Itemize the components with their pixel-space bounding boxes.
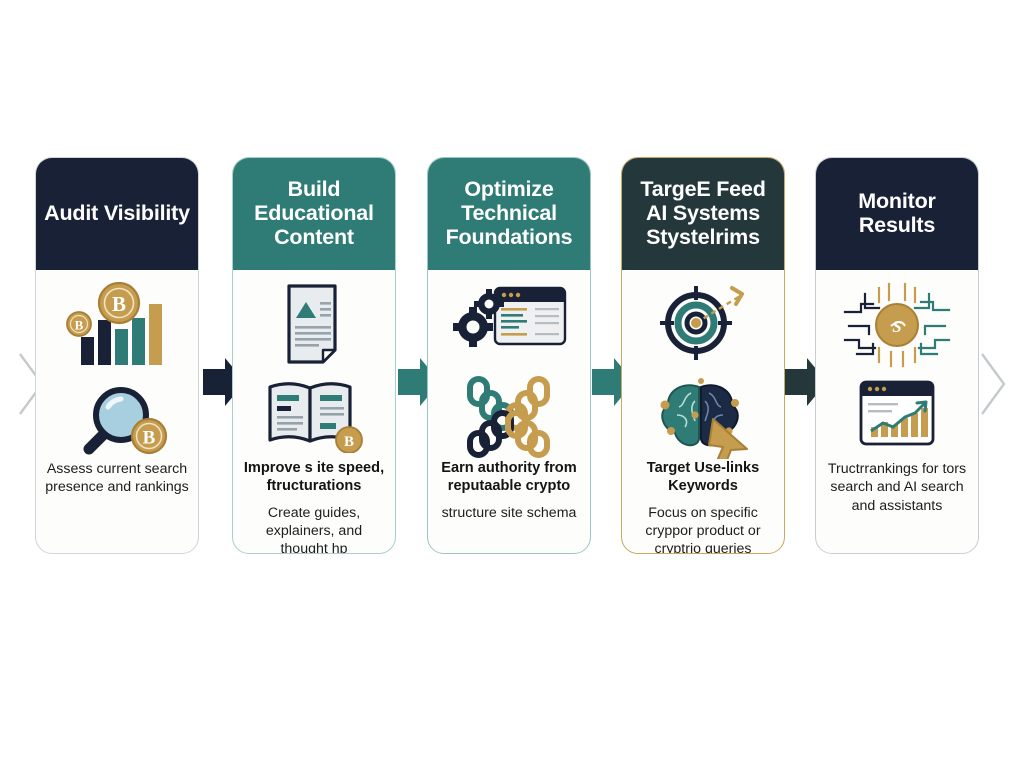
card-body: B B B <box>36 270 198 553</box>
icon-stack: S <box>816 278 978 456</box>
card-text: Target Use-links Keywords Focus on speci… <box>622 456 784 554</box>
svg-text:B: B <box>344 434 354 450</box>
svg-text:B: B <box>143 428 156 449</box>
step-card-audit-visibility[interactable]: Audit Visibility B <box>35 157 199 554</box>
card-description: Tructrrankings for tors search and AI se… <box>825 460 969 515</box>
card-description: Create guides, explainers, and thought h… <box>242 504 386 554</box>
step-card-monitor-results[interactable]: Monitor Results <box>815 157 979 554</box>
card-body: B Improve s ite speed, ftructurations Cr… <box>233 270 395 554</box>
svg-text:B: B <box>112 292 126 316</box>
open-book-bitcoin-icon: B <box>262 375 366 458</box>
document-article-icon <box>275 282 353 371</box>
growth-chart-window-icon <box>855 377 939 454</box>
card-header-title: Audit Visibility <box>36 158 198 270</box>
flowchart-canvas: Audit Visibility B <box>0 0 1024 768</box>
card-header-title: Optimize Technical Foundations <box>428 158 590 270</box>
card-heading: Earn authority from reputaable crypto <box>437 460 581 495</box>
icon-stack: B <box>233 278 395 456</box>
card-description: Focus on specific cryppor product or cry… <box>631 504 775 554</box>
step-card-build-educational-content[interactable]: Build Educational Content <box>232 157 396 554</box>
card-heading: Improve s ite speed, ftructurations <box>242 460 386 495</box>
icon-stack <box>428 278 590 456</box>
card-text: Tructrrankings for tors search and AI se… <box>816 456 978 515</box>
card-description: structure site schema <box>437 504 581 522</box>
brain-cursor-icon <box>651 375 755 464</box>
card-text: Earn authority from reputaable crypto st… <box>428 456 590 522</box>
card-header-title: Monitor Results <box>816 158 978 270</box>
card-body: S <box>816 270 978 553</box>
card-body: Earn authority from reputaable crypto st… <box>428 270 590 553</box>
step-card-target-feed-ai-systems[interactable]: TargeE Feed AI Systems Stystelrims <box>621 157 785 554</box>
card-header-title: Build Educational Content <box>233 158 395 270</box>
card-text: Improve s ite speed, ftructurations Crea… <box>233 456 395 554</box>
card-description: Assess current search presence and ranki… <box>45 460 189 497</box>
card-heading: Target Use-links Keywords <box>631 460 775 495</box>
icon-stack <box>622 278 784 456</box>
circuit-coin-badge-icon: S <box>839 282 955 373</box>
svg-text:S: S <box>892 317 901 336</box>
card-header-title: TargeE Feed AI Systems Stystelrims <box>622 158 784 270</box>
magnifier-bitcoin-icon: B <box>61 379 173 468</box>
gears-browser-window-icon <box>447 282 571 365</box>
crossed-chain-links-icon <box>454 369 564 464</box>
step-card-optimize-technical-foundations[interactable]: Optimize Technical Foundations <box>427 157 591 554</box>
icon-stack: B B B <box>36 278 198 456</box>
card-body: Target Use-links Keywords Focus on speci… <box>622 270 784 554</box>
right-edge-chevron <box>976 348 1010 420</box>
svg-text:B: B <box>75 318 84 333</box>
target-crosshair-arrow-icon <box>652 282 754 371</box>
bitcoin-bar-chart-icon: B B <box>61 282 173 375</box>
card-text: Assess current search presence and ranki… <box>36 456 198 497</box>
